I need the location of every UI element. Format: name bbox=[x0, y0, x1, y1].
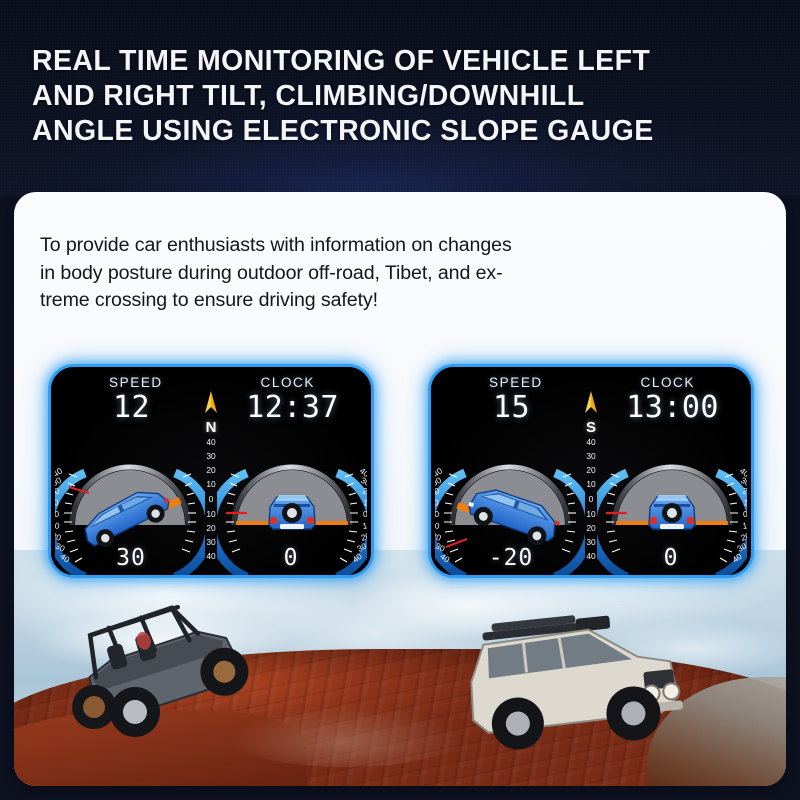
page-root: REAL TIME MONITORING OF VEHICLE LEFT AND… bbox=[0, 0, 800, 800]
roll-value: 0 bbox=[221, 545, 361, 571]
compass-needle-icon bbox=[580, 389, 602, 417]
speed-label: SPEED bbox=[109, 375, 163, 390]
headline-line-2: AND RIGHT TILT, CLIMBING/DOWNHILL bbox=[32, 79, 732, 114]
vehicle-white-suv bbox=[444, 598, 694, 758]
clock-value: 12:37 bbox=[246, 390, 339, 425]
svg-text:0: 0 bbox=[743, 509, 747, 519]
svg-text:0: 0 bbox=[55, 509, 59, 519]
speed-value: 15 bbox=[493, 390, 530, 425]
speed-label: SPEED bbox=[489, 375, 543, 390]
clock-label: CLOCK bbox=[640, 375, 695, 390]
headline-line-3: ANGLE USING ELECTRONIC SLOPE GAUGE bbox=[32, 114, 732, 149]
vehicle-rear-icon bbox=[269, 495, 315, 529]
headline-line-1: REAL TIME MONITORING OF VEHICLE LEFT bbox=[32, 44, 732, 79]
svg-text:40: 40 bbox=[206, 551, 216, 561]
svg-text:30: 30 bbox=[586, 537, 596, 547]
svg-text:20: 20 bbox=[586, 465, 596, 475]
svg-text:20: 20 bbox=[206, 523, 216, 533]
svg-text:40: 40 bbox=[586, 551, 596, 561]
svg-text:0: 0 bbox=[209, 494, 214, 504]
svg-text:20: 20 bbox=[206, 465, 216, 475]
intro-line-2: in body posture during outdoor off-road,… bbox=[40, 260, 640, 288]
svg-text:10: 10 bbox=[363, 497, 367, 508]
svg-text:40: 40 bbox=[586, 437, 596, 447]
vehicle-open-top-jeep bbox=[58, 594, 288, 744]
svg-text:10: 10 bbox=[586, 479, 596, 489]
device-right[interactable]: SPEED 15 CLOCK 13:00 S bbox=[428, 364, 754, 578]
svg-text:10: 10 bbox=[742, 520, 747, 531]
svg-text:10: 10 bbox=[206, 509, 216, 519]
intro-line-3: treme crossing to ensure driving safety! bbox=[40, 287, 640, 315]
svg-text:0: 0 bbox=[363, 509, 367, 519]
headline-band: REAL TIME MONITORING OF VEHICLE LEFT AND… bbox=[0, 0, 800, 196]
intro-paragraph: To provide car enthusiasts with informat… bbox=[40, 232, 640, 315]
svg-text:10: 10 bbox=[435, 520, 441, 531]
svg-text:30: 30 bbox=[206, 537, 216, 547]
svg-text:10: 10 bbox=[586, 509, 596, 519]
svg-text:10: 10 bbox=[55, 520, 61, 531]
compass-needle-icon bbox=[200, 389, 222, 417]
device-left[interactable]: SPEED 12 CLOCK 12:37 N bbox=[48, 364, 374, 578]
vehicle-rear-icon bbox=[649, 495, 695, 529]
pitch-value: -20 bbox=[441, 545, 581, 571]
offroad-photo bbox=[14, 550, 786, 786]
roll-value: 0 bbox=[601, 545, 741, 571]
clock-label: CLOCK bbox=[260, 375, 315, 390]
device-left-gauges: 40 30 20 10 0 10 20 30 40 bbox=[51, 425, 371, 575]
svg-text:10: 10 bbox=[362, 520, 367, 531]
svg-text:40: 40 bbox=[206, 437, 216, 447]
svg-text:30: 30 bbox=[206, 451, 216, 461]
device-right-gauges: 40 30 20 10 0 10 20 30 40 bbox=[431, 425, 751, 575]
intro-line-1: To provide car enthusiasts with informat… bbox=[40, 232, 640, 260]
clock-value: 13:00 bbox=[626, 390, 719, 425]
svg-text:10: 10 bbox=[743, 497, 747, 508]
speed-value: 12 bbox=[113, 390, 150, 425]
page-title: REAL TIME MONITORING OF VEHICLE LEFT AND… bbox=[32, 44, 732, 149]
pitch-value: 30 bbox=[61, 545, 201, 571]
svg-text:30: 30 bbox=[586, 451, 596, 461]
content-card: To provide car enthusiasts with informat… bbox=[14, 192, 786, 786]
svg-text:0: 0 bbox=[589, 494, 594, 504]
device-gallery: SPEED 12 CLOCK 12:37 N bbox=[14, 364, 786, 576]
svg-text:20: 20 bbox=[586, 523, 596, 533]
svg-text:0: 0 bbox=[435, 509, 439, 519]
svg-text:10: 10 bbox=[206, 479, 216, 489]
